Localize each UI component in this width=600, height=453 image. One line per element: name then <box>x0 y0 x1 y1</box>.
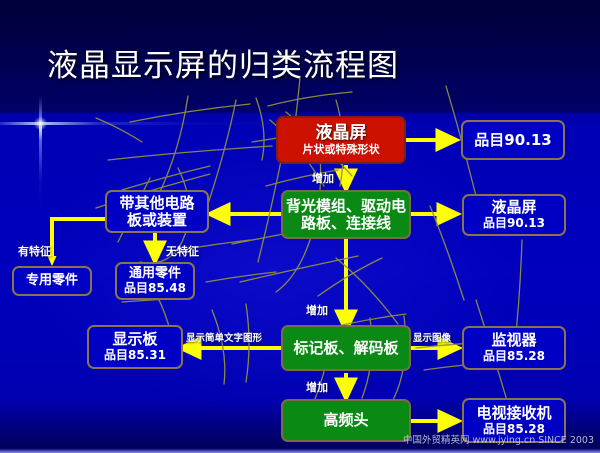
node-other-circuit[interactable]: 带其他电路 板或装置 <box>105 190 209 233</box>
node-monitor-sub: 品目85.28 <box>483 350 545 363</box>
node-backlight-module-line1: 背光模组、驱动电 <box>286 198 406 215</box>
node-marker-decoder[interactable]: 标记板、解码板 <box>281 325 411 371</box>
node-tuner[interactable]: 高频头 <box>281 399 411 442</box>
node-monitor-title: 监视器 <box>491 332 536 349</box>
node-other-circuit-line2: 板或装置 <box>127 212 187 229</box>
edge-label-add-1: 增加 <box>312 170 334 186</box>
edge-label-add-2: 增加 <box>306 302 328 318</box>
node-lcd-panel-sub: 片状或特殊形状 <box>303 144 380 156</box>
node-heading-9013-a[interactable]: 品目90.13 <box>461 120 565 160</box>
node-general-part-title: 通用零件 <box>129 267 181 282</box>
node-backlight-module[interactable]: 背光模组、驱动电 路板、连接线 <box>281 190 411 239</box>
site-watermark: 中国外贸精英网 www.jying.cn SINCE 2003 <box>403 432 594 446</box>
slide-canvas: 液晶显示屏的归类流程图 <box>0 0 600 453</box>
node-display-board[interactable]: 显示板 品目85.31 <box>87 325 183 369</box>
node-display-board-sub: 品目85.31 <box>104 349 166 362</box>
node-general-part[interactable]: 通用零件 品目85.48 <box>115 262 195 300</box>
node-display-board-title: 显示板 <box>112 331 157 348</box>
node-backlight-module-line2: 路板、连接线 <box>301 215 391 232</box>
edge-label-show-image: 显示图像 <box>413 330 451 344</box>
node-lcd-panel-9013-title: 液晶屏 <box>491 199 536 216</box>
node-heading-9013-a-title: 品目90.13 <box>474 132 551 149</box>
edge-label-no-feature: 无特征 <box>166 243 199 259</box>
node-lcd-panel-title: 液晶屏 <box>316 124 367 143</box>
arrow-othercircuit-elbow <box>52 219 105 258</box>
node-monitor[interactable]: 监视器 品目85.28 <box>462 326 566 370</box>
node-lcd-panel[interactable]: 液晶屏 片状或特殊形状 <box>276 116 406 164</box>
node-tuner-title: 高频头 <box>323 412 368 429</box>
node-marker-decoder-title: 标记板、解码板 <box>293 340 398 357</box>
edge-label-add-3: 增加 <box>306 379 328 395</box>
node-lcd-panel-9013[interactable]: 液晶屏 品目90.13 <box>462 194 566 236</box>
node-other-circuit-line1: 带其他电路 <box>119 195 194 212</box>
edge-label-has-feature: 有特征 <box>18 243 51 259</box>
node-general-part-sub: 品目85.48 <box>124 282 186 295</box>
node-lcd-panel-9013-sub: 品目90.13 <box>483 217 545 230</box>
node-tv-receiver-title: 电视接收机 <box>476 405 551 422</box>
node-special-part[interactable]: 专用零件 <box>12 266 92 296</box>
node-special-part-title: 专用零件 <box>26 274 78 289</box>
edge-label-simple-text: 显示简单文字图形 <box>186 330 262 344</box>
